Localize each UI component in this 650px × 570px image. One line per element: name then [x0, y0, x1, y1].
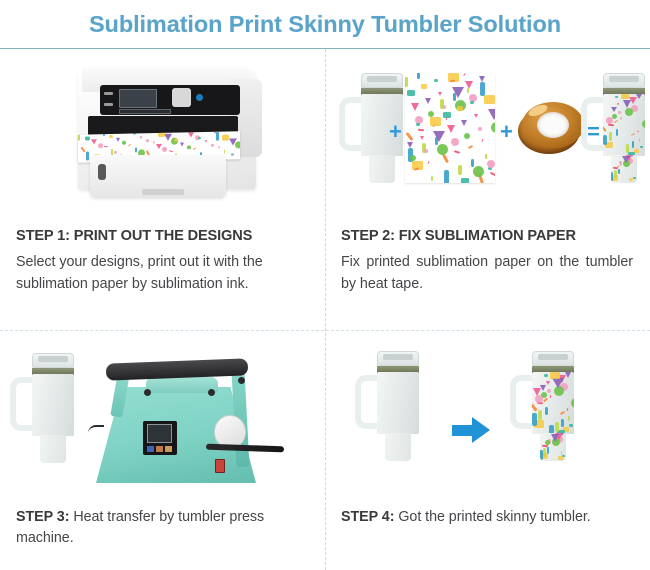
printer-paper-slot [142, 189, 184, 195]
press-button-1 [147, 446, 154, 452]
step-2-caption: STEP 2: FIX SUBLIMATION PAPER Fix printe… [341, 227, 641, 296]
printed-tumbler [581, 71, 650, 186]
step-1-body: Select your designs, print out it with t… [16, 252, 316, 295]
step-4-caption: STEP 4: Got the printed skinny tumbler. [341, 507, 641, 528]
step-2-body: Fix printed sublimation paper on the tum… [341, 252, 633, 295]
blue-arrow-icon [452, 417, 492, 443]
step-3-cell: STEP 3: Heat transfer by tumbler press m… [0, 331, 325, 570]
step-2-heading: STEP 2: FIX SUBLIMATION PAPER [341, 227, 641, 245]
step-1-illustration [0, 49, 325, 224]
plus-operator-2: + [500, 121, 513, 143]
press-handle-bar [106, 358, 249, 380]
sublimation-printer-icon [72, 61, 265, 209]
step-3-heading: STEP 3: [16, 509, 69, 525]
step-4-body: Got the printed skinny tumbler. [394, 509, 590, 525]
step-4-heading: STEP 4: [341, 509, 394, 525]
printer-lcd-screen [119, 89, 157, 108]
blank-tumbler [10, 351, 80, 466]
step-1-heading: STEP 1: PRINT OUT THE DESIGNS [16, 227, 316, 245]
press-button-2 [156, 446, 163, 452]
press-lcd-screen [147, 424, 172, 443]
step-4-cell: STEP 4: Got the printed skinny tumbler. [325, 331, 650, 570]
heat-press-machine [88, 349, 303, 491]
plus-operator-1: + [389, 121, 402, 143]
press-button-3 [165, 446, 172, 452]
step-4-illustration [325, 331, 650, 506]
step-2-illustration: + + = [325, 49, 650, 224]
header-bar: Sublimation Print Skinny Tumbler Solutio… [0, 0, 650, 49]
printed-sublimation-paper [405, 73, 495, 183]
step-3-illustration [0, 331, 325, 506]
infographic-root: Sublimation Print Skinny Tumbler Solutio… [0, 0, 650, 570]
press-power-switch [215, 459, 225, 473]
blank-tumbler [355, 349, 425, 464]
step-1-caption: STEP 1: PRINT OUT THE DESIGNS Select you… [16, 227, 316, 296]
printer-power-indicator [196, 94, 203, 101]
step-1-cell: STEP 1: PRINT OUT THE DESIGNS Select you… [0, 49, 325, 330]
step-2-cell: + + = STEP 2: FIX SU [325, 49, 650, 330]
page-title: Sublimation Print Skinny Tumbler Solutio… [89, 11, 561, 38]
step-3-caption: STEP 3: Heat transfer by tumbler press m… [16, 507, 316, 550]
printed-tumbler [510, 349, 580, 464]
printer-button-pad [172, 88, 191, 107]
heat-tape-roll [518, 102, 582, 160]
